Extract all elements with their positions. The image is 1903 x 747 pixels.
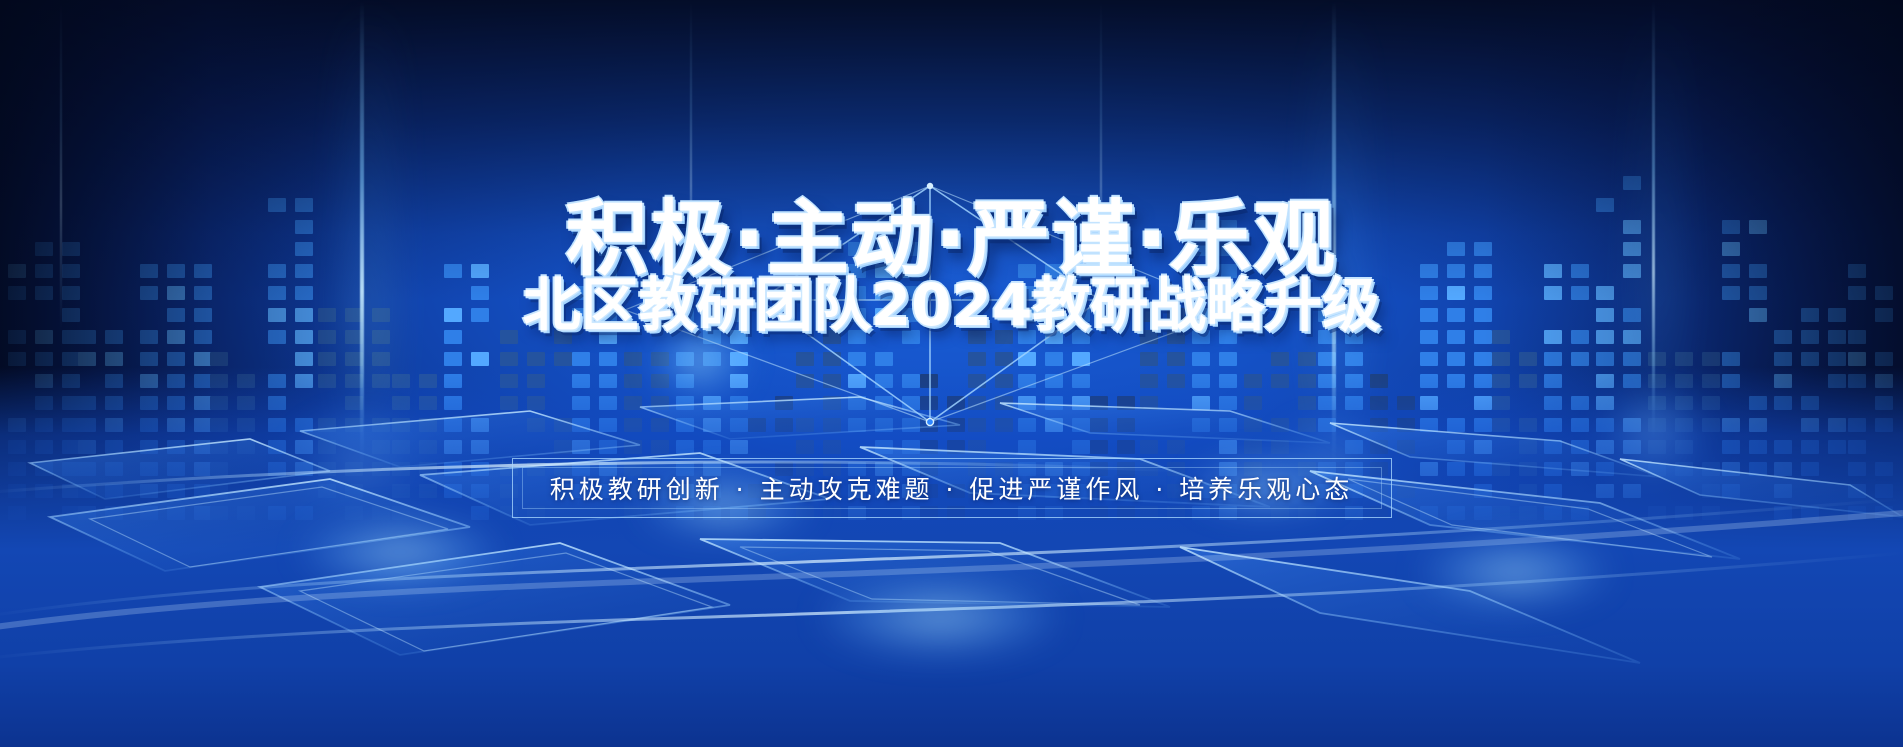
banner-text-block: 积极·主动·严谨·乐观 北区教研团队2024教研战略升级 积极教研创新 · 主动…	[0, 0, 1903, 747]
tagline-frame: 积极教研创新 · 主动攻克难题 · 促进严谨作风 · 培养乐观心态	[512, 458, 1392, 518]
tagline-text: 积极教研创新 · 主动攻克难题 · 促进严谨作风 · 培养乐观心态	[550, 470, 1354, 506]
banner-root: 积极·主动·严谨·乐观 北区教研团队2024教研战略升级 积极教研创新 · 主动…	[0, 0, 1903, 747]
page-subtitle: 北区教研团队2024教研战略升级	[523, 258, 1380, 342]
